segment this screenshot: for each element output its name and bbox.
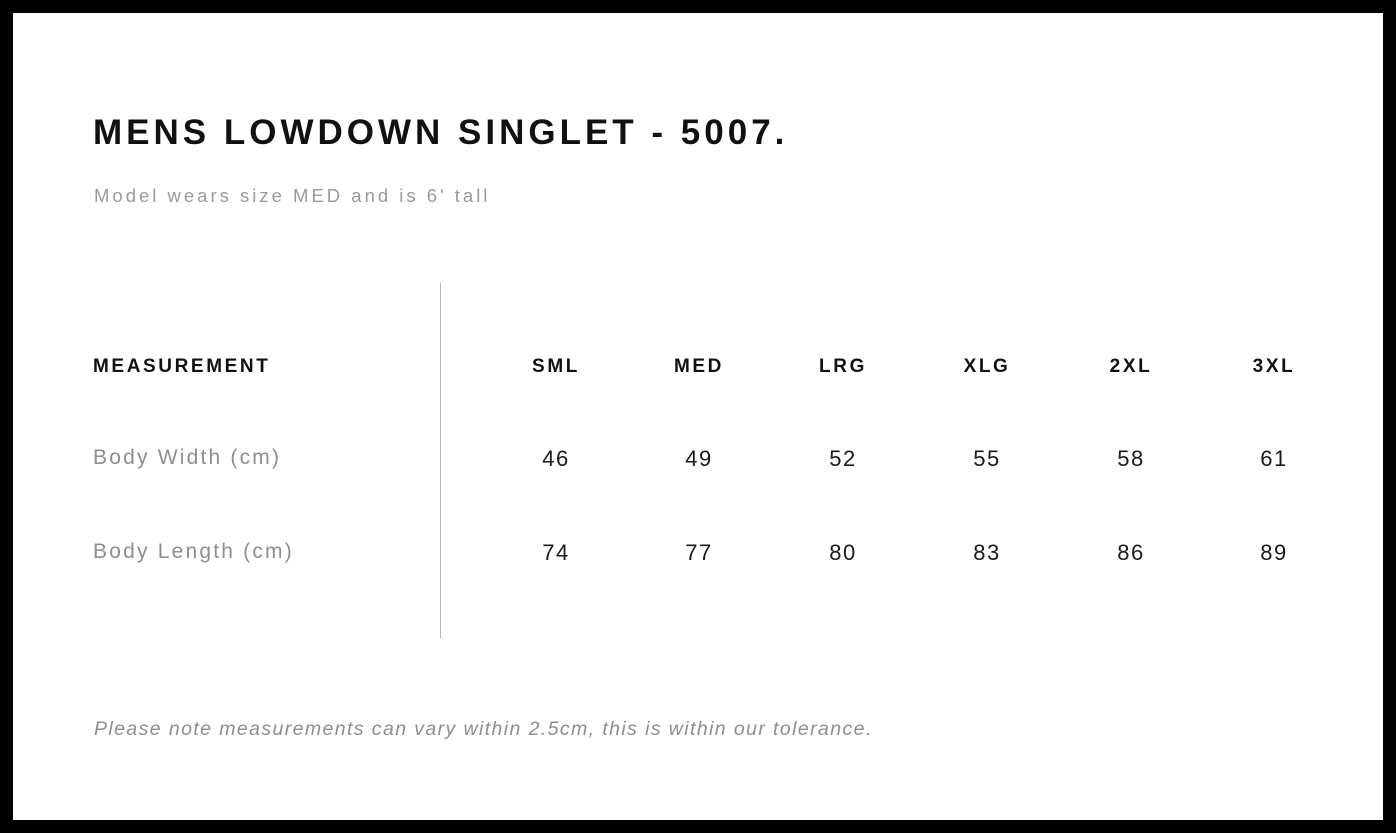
- table-vertical-divider: [440, 283, 441, 638]
- column-header-med: MED: [639, 356, 759, 378]
- size-chart-card: MENS LOWDOWN SINGLET - 5007. Model wears…: [13, 13, 1383, 820]
- cell-body-length-sml: 74: [496, 540, 616, 566]
- cell-body-width-3xl: 61: [1214, 446, 1334, 472]
- row-label-body-width: Body Width (cm): [93, 446, 281, 470]
- column-header-3xl: 3XL: [1214, 356, 1334, 378]
- cell-body-width-lrg: 52: [783, 446, 903, 472]
- tolerance-footnote: Please note measurements can vary within…: [94, 718, 873, 741]
- cell-body-width-med: 49: [639, 446, 759, 472]
- cell-body-width-2xl: 58: [1071, 446, 1191, 472]
- cell-body-width-sml: 46: [496, 446, 616, 472]
- cell-body-length-lrg: 80: [783, 540, 903, 566]
- column-header-lrg: LRG: [783, 356, 903, 378]
- cell-body-length-2xl: 86: [1071, 540, 1191, 566]
- cell-body-length-xlg: 83: [927, 540, 1047, 566]
- row-label-body-length: Body Length (cm): [93, 540, 294, 564]
- size-chart-table: MEASUREMENT SML MED LRG XLG 2XL 3XL Body…: [13, 13, 1383, 820]
- column-header-2xl: 2XL: [1071, 356, 1191, 378]
- column-header-measurement: MEASUREMENT: [93, 356, 270, 378]
- cell-body-width-xlg: 55: [927, 446, 1047, 472]
- column-header-sml: SML: [496, 356, 616, 378]
- column-header-xlg: XLG: [927, 356, 1047, 378]
- cell-body-length-3xl: 89: [1214, 540, 1334, 566]
- cell-body-length-med: 77: [639, 540, 759, 566]
